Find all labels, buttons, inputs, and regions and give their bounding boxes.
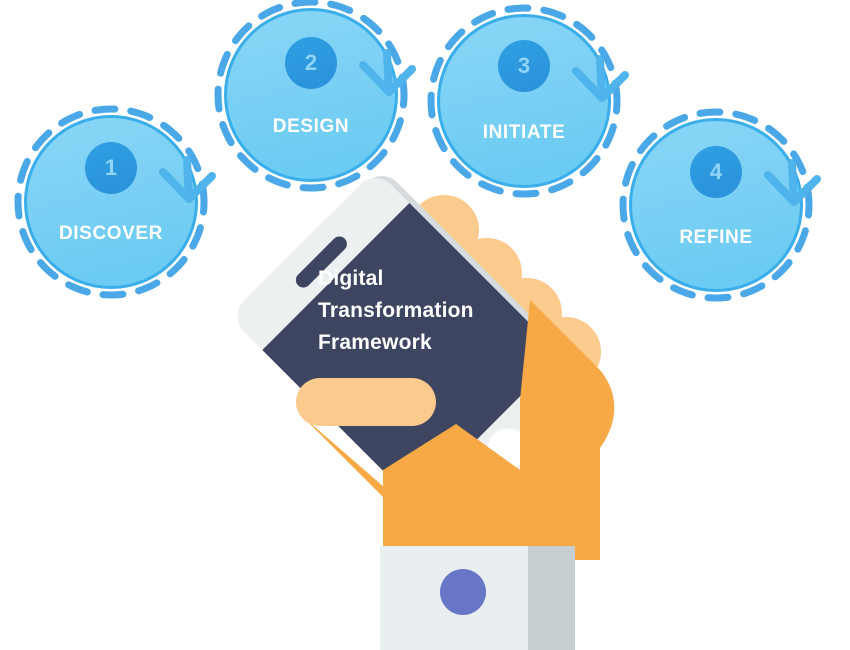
sleeve-button (440, 569, 486, 615)
hand-holding-phone-illustration: Digital Transformation Framework (228, 165, 614, 650)
step-body-design (227, 11, 395, 179)
step-number-design: 2 (305, 50, 317, 75)
step-label-discover: DISCOVER (59, 223, 163, 244)
device-headline-line-1: Digital (318, 267, 384, 290)
step-number-refine: 4 (710, 159, 723, 184)
step-circle-design[interactable]: 2 DESIGN (218, 2, 412, 188)
step-label-design: DESIGN (273, 116, 349, 137)
device-headline-line-3: Framework (318, 331, 432, 354)
step-label-refine: REFINE (679, 227, 752, 248)
arrow-tail-initiate (600, 59, 602, 98)
step-circle-initiate[interactable]: 3 INITIATE (431, 8, 625, 194)
step-number-discover: 1 (105, 155, 117, 180)
framework-illustration: 1 DISCOVER 2 DESIGN 3 INITIATE (0, 0, 850, 650)
infographic-canvas: 1 DISCOVER 2 DESIGN 3 INITIATE (0, 0, 850, 650)
arrow-tail-design (387, 53, 389, 92)
step-label-initiate: INITIATE (483, 122, 566, 143)
thumb (296, 378, 436, 426)
step-circle-discover[interactable]: 1 DISCOVER (18, 109, 212, 295)
arrow-tail-discover (187, 160, 189, 199)
step-circle-refine[interactable]: 4 REFINE (623, 112, 817, 298)
device-headline-line-2: Transformation (318, 299, 474, 322)
arrow-tail-refine (792, 163, 794, 202)
hand-outer-edge (520, 300, 614, 560)
step-number-initiate: 3 (518, 53, 530, 78)
